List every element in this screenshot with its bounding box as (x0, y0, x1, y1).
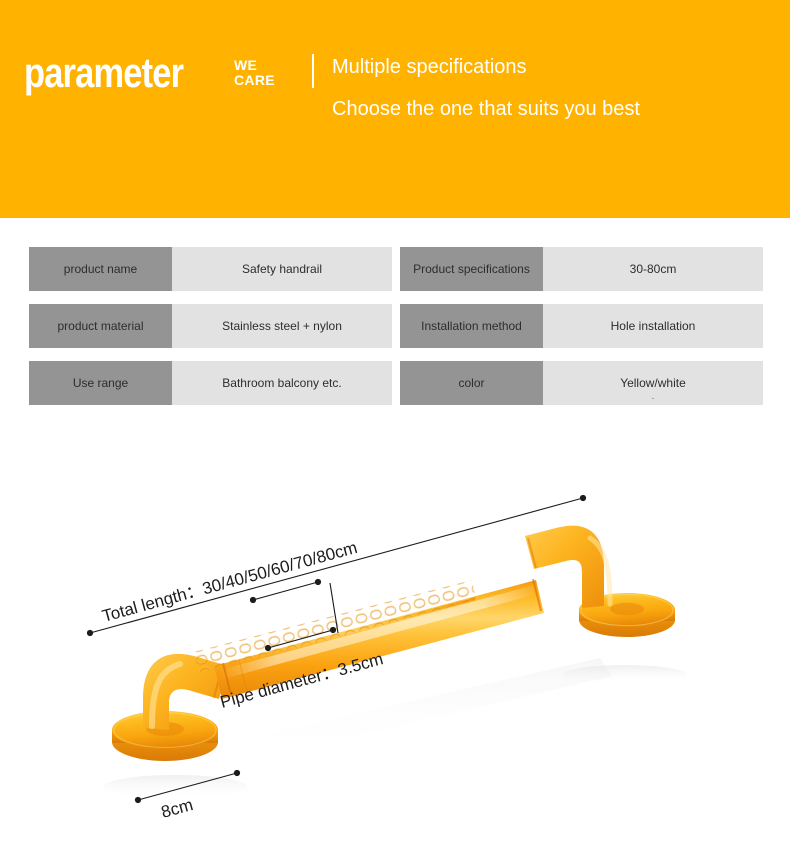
banner-kicker-line-2: CARE (234, 73, 275, 88)
spec-pair-left: product material Stainless steel + nylon (29, 304, 392, 348)
handrail-illustration: Total length：30/40/50/60/70/80cm Pipe di… (0, 470, 790, 856)
spec-column-gap (392, 304, 400, 348)
spec-label: product material (29, 304, 172, 348)
spec-pair-right: color Yellow/white - (400, 361, 763, 405)
spec-pair-left: Use range Bathroom balcony etc. (29, 361, 392, 405)
spec-value: Safety handrail (172, 247, 392, 291)
spec-value-text: Yellow/white (620, 376, 686, 390)
table-row: product material Stainless steel + nylon… (29, 304, 763, 348)
page-header-banner: parameter WE CARE Multiple specification… (0, 0, 790, 218)
spec-column-gap (392, 247, 400, 291)
banner-subheadline: Choose the one that suits you best (332, 98, 640, 121)
spec-value-sub-mark: - (652, 394, 655, 403)
spec-label: Installation method (400, 304, 543, 348)
table-row: Use range Bathroom balcony etc. color Ye… (29, 361, 763, 405)
banner-kicker-line-1: WE (234, 58, 275, 73)
banner-headline: Multiple specifications (332, 56, 527, 79)
banner-kicker-group: WE CARE (234, 58, 275, 87)
flange-width-label: 8cm (159, 795, 195, 822)
table-row: product name Safety handrail Product spe… (29, 247, 763, 291)
spec-label: color (400, 361, 543, 405)
spec-value: 30-80cm (543, 247, 763, 291)
spec-pair-left: product name Safety handrail (29, 247, 392, 291)
spec-value: Bathroom balcony etc. (172, 361, 392, 405)
product-figure: Total length：30/40/50/60/70/80cm Pipe di… (0, 470, 790, 856)
banner-title: parameter (24, 52, 183, 94)
spec-value-color: Yellow/white - (543, 361, 763, 405)
spec-label: Use range (29, 361, 172, 405)
spec-value: Hole installation (543, 304, 763, 348)
shadow-left (103, 775, 247, 799)
spec-pair-right: Product specifications 30-80cm (400, 247, 763, 291)
spec-column-gap (392, 361, 400, 405)
banner-divider (312, 54, 314, 88)
specification-table: product name Safety handrail Product spe… (29, 247, 763, 418)
spec-label: product name (29, 247, 172, 291)
spec-label: Product specifications (400, 247, 543, 291)
handrail-tube (192, 577, 544, 699)
spec-value: Stainless steel + nylon (172, 304, 392, 348)
spec-pair-right: Installation method Hole installation (400, 304, 763, 348)
